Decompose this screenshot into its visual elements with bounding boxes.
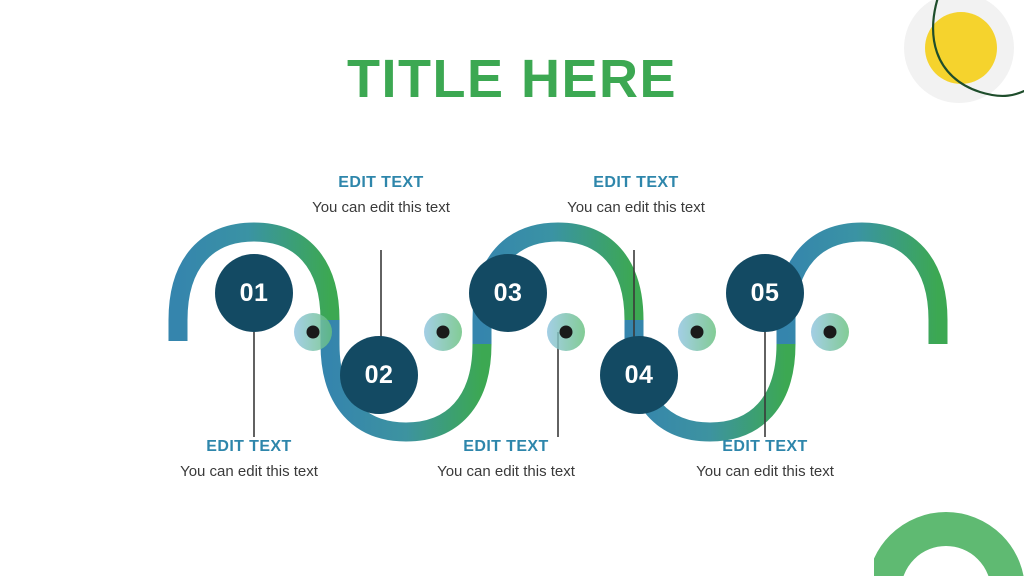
step-node-04[interactable]: 04 <box>600 336 678 414</box>
step-node-05[interactable]: 05 <box>726 254 804 332</box>
step-label-03[interactable]: EDIT TEXT You can edit this text <box>391 437 621 482</box>
step-label-desc-03: You can edit this text <box>391 462 621 482</box>
step-label-title-03: EDIT TEXT <box>391 437 621 456</box>
step-label-title-04: EDIT TEXT <box>521 173 751 192</box>
step-label-desc-05: You can edit this text <box>650 462 880 482</box>
connector-dot-5 <box>811 313 849 351</box>
step-label-05[interactable]: EDIT TEXT You can edit this text <box>650 437 880 482</box>
step-label-title-02: EDIT TEXT <box>266 173 496 192</box>
connector-dot-2 <box>424 313 462 351</box>
step-label-01[interactable]: EDIT TEXT You can edit this text <box>134 437 364 482</box>
connector-dot-1 <box>294 313 332 351</box>
step-label-desc-02: You can edit this text <box>266 198 496 218</box>
step-label-title-01: EDIT TEXT <box>134 437 364 456</box>
connector-dot-3 <box>547 313 585 351</box>
step-label-02[interactable]: EDIT TEXT You can edit this text <box>266 173 496 218</box>
step-label-title-05: EDIT TEXT <box>650 437 880 456</box>
connector-dot-4 <box>678 313 716 351</box>
step-label-desc-01: You can edit this text <box>134 462 364 482</box>
step-label-desc-04: You can edit this text <box>521 198 751 218</box>
step-label-04[interactable]: EDIT TEXT You can edit this text <box>521 173 751 218</box>
step-node-03[interactable]: 03 <box>469 254 547 332</box>
slide-canvas: TITLE HERE <box>0 0 1024 576</box>
step-node-02[interactable]: 02 <box>340 336 418 414</box>
step-node-01[interactable]: 01 <box>215 254 293 332</box>
process-wave-infographic: 01 02 03 04 05 EDIT TEXT You can edit th… <box>0 0 1024 576</box>
